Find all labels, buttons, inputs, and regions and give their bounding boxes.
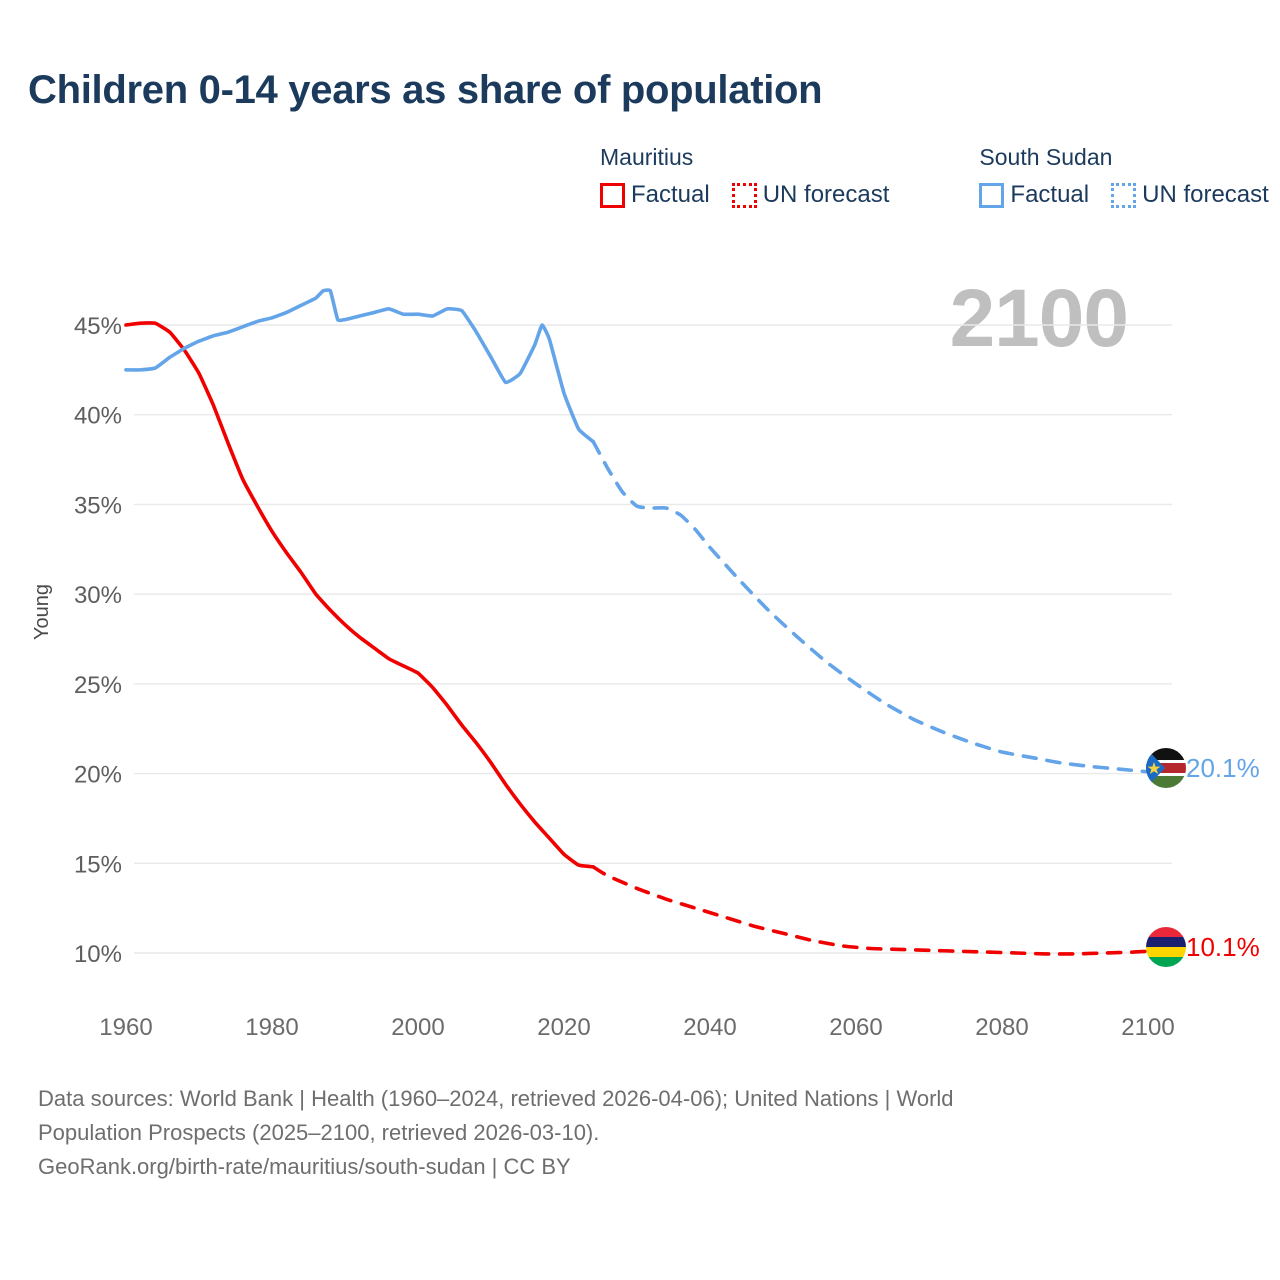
y-axis-tick-label: 35% [74, 492, 122, 519]
x-axis-tick-label: 2080 [975, 1014, 1028, 1041]
series-lines [126, 290, 1148, 954]
footer-line-3[interactable]: GeoRank.org/birth-rate/mauritius/south-s… [38, 1150, 1188, 1184]
end-label-mauritius: 10.1% [1186, 932, 1260, 963]
legend-row: Factual UN forecast [979, 181, 1268, 209]
legend-item-label: Factual [631, 181, 710, 209]
page-title: Children 0-14 years as share of populati… [28, 68, 822, 113]
series-line-south-sudan-factual [126, 290, 593, 442]
end-label-south-sudan: 20.1% [1186, 753, 1260, 784]
legend-item-label: UN forecast [763, 181, 890, 209]
y-axis-tick-label: 30% [74, 582, 122, 609]
legend-item-mauritius-factual[interactable]: Factual [600, 181, 710, 209]
y-axis-tick-label: 10% [74, 941, 122, 968]
legend-group-south-sudan: South Sudan Factual UN forecast [979, 144, 1268, 209]
legend-row: Factual UN forecast [600, 181, 889, 209]
x-axis-tick-label: 1960 [99, 1014, 152, 1041]
y-axis-tick-label: 20% [74, 762, 122, 789]
y-axis-tick-label: 15% [74, 851, 122, 878]
year-watermark: 2100 [950, 272, 1128, 366]
series-line-mauritius-forecast [593, 867, 1148, 954]
y-axis-title: Young [31, 584, 53, 640]
legend-swatch-dotted-icon [1111, 183, 1136, 208]
chart-legend: Mauritius Factual UN forecast South Suda… [600, 144, 1269, 209]
legend-swatch-solid-icon [600, 183, 625, 208]
series-line-mauritius-factual [126, 323, 593, 867]
x-axis-tick-label: 1980 [245, 1014, 298, 1041]
legend-group-mauritius: Mauritius Factual UN forecast [600, 144, 889, 209]
legend-item-south-sudan-forecast[interactable]: UN forecast [1111, 181, 1269, 209]
legend-country-label: South Sudan [979, 144, 1268, 171]
mauritius-flag-icon [1146, 927, 1186, 967]
legend-item-mauritius-forecast[interactable]: UN forecast [732, 181, 890, 209]
legend-swatch-solid-icon [979, 183, 1004, 208]
x-axis-tick-label: 2100 [1121, 1014, 1174, 1041]
south-sudan-flag-icon [1146, 748, 1186, 788]
footer-line-2: Population Prospects (2025–2100, retriev… [38, 1116, 1188, 1150]
series-line-south-sudan-forecast [593, 442, 1148, 772]
legend-country-label: Mauritius [600, 144, 889, 171]
x-axis-tick-labels: 19601980200020202040206020802100 [99, 1014, 1174, 1041]
legend-item-label: Factual [1010, 181, 1089, 209]
x-axis-tick-label: 2040 [683, 1014, 736, 1041]
footer-line-1: Data sources: World Bank | Health (1960–… [38, 1082, 1188, 1116]
chart-footer: Data sources: World Bank | Health (1960–… [38, 1082, 1188, 1184]
x-axis-tick-label: 2020 [537, 1014, 590, 1041]
y-axis-tick-label: 25% [74, 672, 122, 699]
chart-root: Children 0-14 years as share of populati… [0, 0, 1280, 1280]
legend-item-south-sudan-factual[interactable]: Factual [979, 181, 1089, 209]
x-axis-tick-label: 2060 [829, 1014, 882, 1041]
y-axis-tick-label: 45% [74, 313, 122, 340]
legend-swatch-dotted-icon [732, 183, 757, 208]
y-axis-tick-labels: 45%40%35%30%25%20%15%10% [74, 313, 122, 968]
gridlines [134, 325, 1172, 953]
x-axis-tick-label: 2000 [391, 1014, 444, 1041]
legend-item-label: UN forecast [1142, 181, 1269, 209]
y-axis-tick-label: 40% [74, 403, 122, 430]
